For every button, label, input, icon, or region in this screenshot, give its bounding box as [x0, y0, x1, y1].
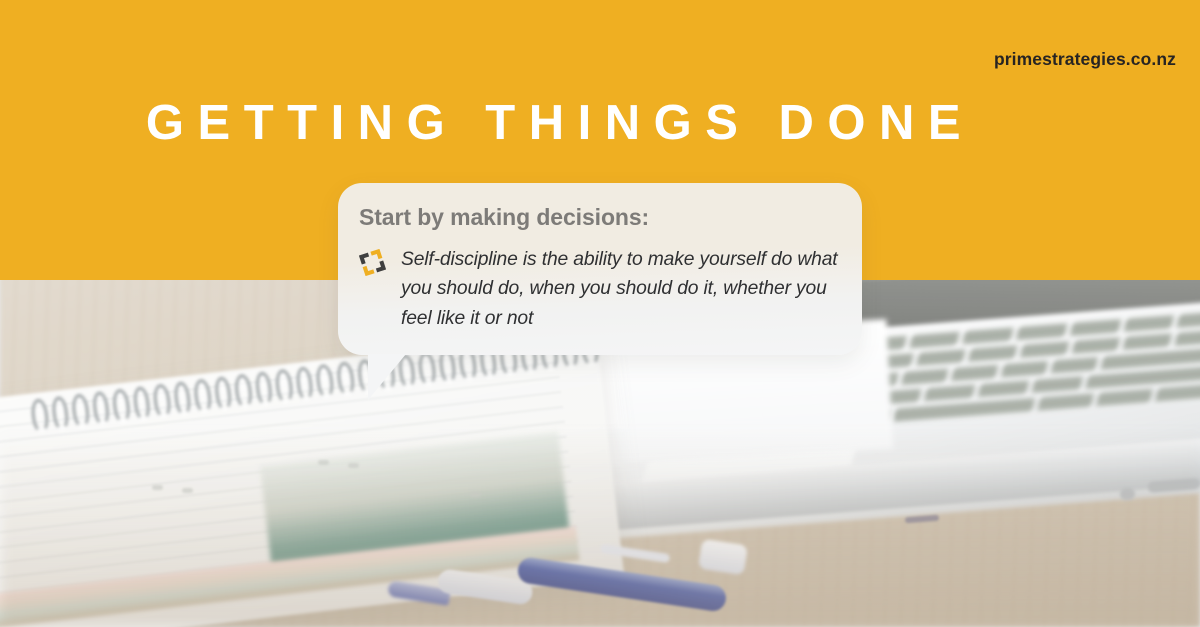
card-title: Start by making decisions: [359, 204, 649, 231]
quote-card-wrapper: Start by making decisions: Self-discipli… [338, 183, 862, 355]
quote-text: Self-discipline is the ability to make y… [401, 245, 844, 333]
quote-card: Start by making decisions: Self-discipli… [338, 183, 862, 355]
quote-row: Self-discipline is the ability to make y… [359, 245, 844, 333]
speech-bubble-tail [368, 354, 406, 400]
page-title: GETTING THINGS DONE [0, 98, 1120, 149]
site-url: primestrategies.co.nz [994, 49, 1176, 70]
pinwheel-squares-logo-icon [359, 249, 386, 276]
